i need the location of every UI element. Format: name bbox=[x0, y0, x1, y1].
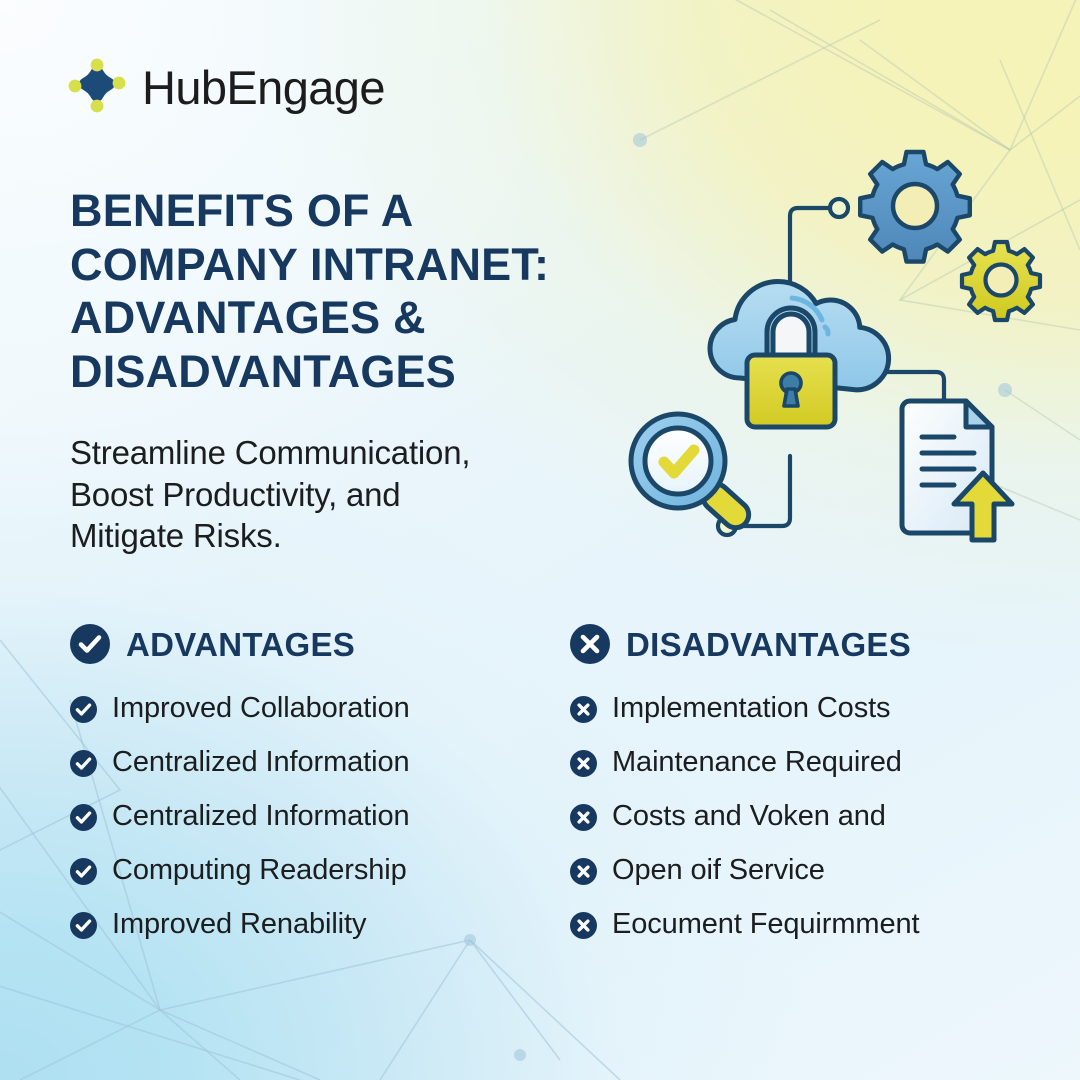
list-item: Improved Renability bbox=[70, 898, 540, 952]
x-circle-icon bbox=[570, 912, 597, 939]
x-circle-icon bbox=[570, 624, 610, 664]
subtitle-line-2: Boost Productivity, and bbox=[70, 474, 630, 516]
list-item-label: Centralized Information bbox=[112, 801, 410, 833]
disadvantages-column: DISADVANTAGES Implementation Costs Maint… bbox=[570, 624, 1060, 952]
list-item-label: Computing Readership bbox=[112, 855, 407, 887]
list-item: Centralized Information bbox=[70, 790, 540, 844]
list-item: Eocument Fequirmment bbox=[570, 898, 1060, 952]
check-circle-icon bbox=[70, 804, 97, 831]
disadvantages-title: DISADVANTAGES bbox=[626, 628, 911, 661]
headline-line-1: BENEFITS OF A bbox=[70, 184, 710, 238]
check-circle-icon bbox=[70, 696, 97, 723]
x-circle-icon bbox=[570, 750, 597, 777]
check-circle-icon bbox=[70, 912, 97, 939]
list-item-label: Maintenance Required bbox=[612, 747, 902, 779]
check-circle-icon bbox=[70, 750, 97, 777]
list-item: Computing Readership bbox=[70, 844, 540, 898]
page-subtitle: Streamline Communication, Boost Producti… bbox=[70, 432, 630, 557]
advantages-column: ADVANTAGES Improved Collaboration Centra… bbox=[70, 624, 540, 952]
check-circle-icon bbox=[70, 624, 110, 664]
headline-line-3: ADVANTAGES & bbox=[70, 291, 710, 345]
list-item: Centralized Information bbox=[70, 736, 540, 790]
advantages-title: ADVANTAGES bbox=[126, 628, 355, 661]
headline-line-4: DISADVANTAGES bbox=[70, 345, 710, 399]
list-item-label: Improved Collaboration bbox=[112, 693, 410, 725]
list-item: Implementation Costs bbox=[570, 682, 1060, 736]
disadvantages-header: DISADVANTAGES bbox=[570, 624, 1060, 664]
list-item: Maintenance Required bbox=[570, 736, 1060, 790]
hubengage-star-icon bbox=[66, 56, 128, 118]
advantages-header: ADVANTAGES bbox=[70, 624, 540, 664]
brand-logo[interactable]: HubEngage bbox=[66, 56, 385, 118]
list-item-label: Centralized Information bbox=[112, 747, 410, 779]
x-circle-icon bbox=[570, 696, 597, 723]
intranet-illustration bbox=[620, 120, 1060, 560]
subtitle-line-1: Streamline Communication, bbox=[70, 432, 630, 474]
list-item-label: Improved Renability bbox=[112, 909, 366, 941]
list-item-label: Implementation Costs bbox=[612, 693, 890, 725]
x-circle-icon bbox=[570, 804, 597, 831]
x-circle-icon bbox=[570, 858, 597, 885]
list-item-label: Open oif Service bbox=[612, 855, 825, 887]
list-item-label: Costs and Voken and bbox=[612, 801, 886, 833]
subtitle-line-3: Mitigate Risks. bbox=[70, 515, 630, 557]
headline-line-2: COMPANY INTRANET: bbox=[70, 238, 710, 292]
page-title: BENEFITS OF A COMPANY INTRANET: ADVANTAG… bbox=[70, 184, 710, 398]
list-item: Open oif Service bbox=[570, 844, 1060, 898]
brand-name: HubEngage bbox=[142, 64, 385, 111]
check-circle-icon bbox=[70, 858, 97, 885]
list-item: Costs and Voken and bbox=[570, 790, 1060, 844]
list-item-label: Eocument Fequirmment bbox=[612, 909, 919, 941]
list-item: Improved Collaboration bbox=[70, 682, 540, 736]
